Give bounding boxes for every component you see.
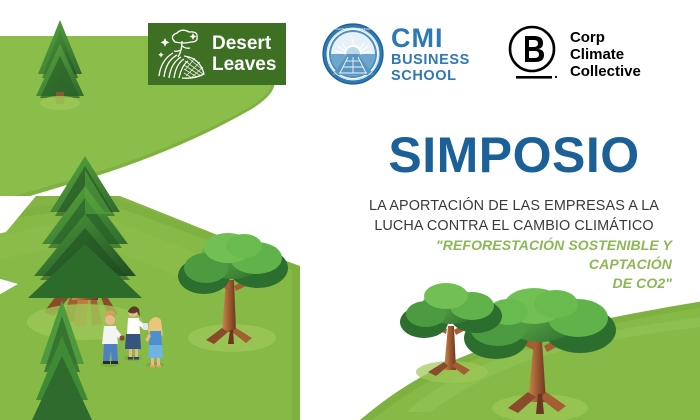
svg-text:★ CMI BUSINESS SCHOOL ★: ★ CMI BUSINESS SCHOOL ★ bbox=[331, 27, 374, 31]
cmi-line3: SCHOOL bbox=[391, 69, 470, 84]
desert-leaves-wordmark: Desert Leaves bbox=[212, 33, 276, 75]
oak-tree-bottom-right bbox=[464, 288, 616, 420]
oak-tree-mid bbox=[178, 233, 288, 352]
tree-terraces-icon bbox=[151, 26, 211, 82]
sunrise-road-seal-icon: ★ CMI BUSINESS SCHOOL ★ bbox=[322, 23, 384, 85]
desert-leaves-line2: Leaves bbox=[212, 54, 276, 75]
desert-leaves-line1: Desert bbox=[212, 33, 276, 54]
plateau-left bbox=[0, 196, 300, 420]
subtitle-line2: LUCHA CONTRA EL CAMBIO CLIMÁTICO bbox=[374, 218, 653, 234]
cmi-wordmark: CMI BUSINESS SCHOOL bbox=[391, 25, 470, 83]
person-woman-center bbox=[124, 306, 148, 361]
shrub-bottom-left bbox=[32, 300, 92, 420]
oak-tree-right bbox=[400, 283, 502, 383]
people-group bbox=[100, 306, 164, 368]
tagline-line1: "REFORESTACIÓN SOSTENIBLE Y CAPTACIÓN bbox=[436, 237, 672, 272]
bcorp-wordmark: Corp Climate Collective bbox=[570, 29, 641, 80]
bcorp-line1: Corp bbox=[570, 29, 641, 46]
tagline-line2: DE CO2" bbox=[613, 275, 672, 291]
subtitle: LA APORTACIÓN DE LAS EMPRESAS A LA LUCHA… bbox=[356, 196, 672, 236]
cmi-business-school-logo[interactable]: ★ CMI BUSINESS SCHOOL ★ CMI BUSINESS SCH… bbox=[322, 23, 470, 85]
b-corp-climate-collective-logo[interactable]: Corp Climate Collective bbox=[506, 23, 641, 85]
person-woman-right bbox=[145, 317, 164, 368]
bcorp-line3: Collective bbox=[570, 63, 641, 80]
page-title: SIMPOSIO bbox=[356, 128, 672, 182]
b-corp-circle-icon bbox=[506, 23, 562, 85]
path-bottom-right bbox=[360, 300, 700, 420]
poster-canvas: Desert Leaves bbox=[0, 0, 700, 420]
large-pine-tree bbox=[27, 156, 143, 340]
subtitle-line1: LA APORTACIÓN DE LAS EMPRESAS A LA bbox=[369, 198, 659, 214]
cmi-line2: BUSINESS bbox=[391, 53, 470, 68]
desert-leaves-logo[interactable]: Desert Leaves bbox=[148, 23, 286, 85]
cmi-line1: CMI bbox=[391, 25, 470, 52]
pine-tree-top-left bbox=[36, 20, 84, 110]
person-man bbox=[100, 311, 125, 368]
tagline: "REFORESTACIÓN SOSTENIBLE Y CAPTACIÓN DE… bbox=[356, 236, 672, 293]
title-block: SIMPOSIO LA APORTACIÓN DE LAS EMPRESAS A… bbox=[356, 128, 672, 293]
bcorp-line2: Climate bbox=[570, 46, 641, 63]
logo-row: Desert Leaves bbox=[148, 20, 668, 88]
